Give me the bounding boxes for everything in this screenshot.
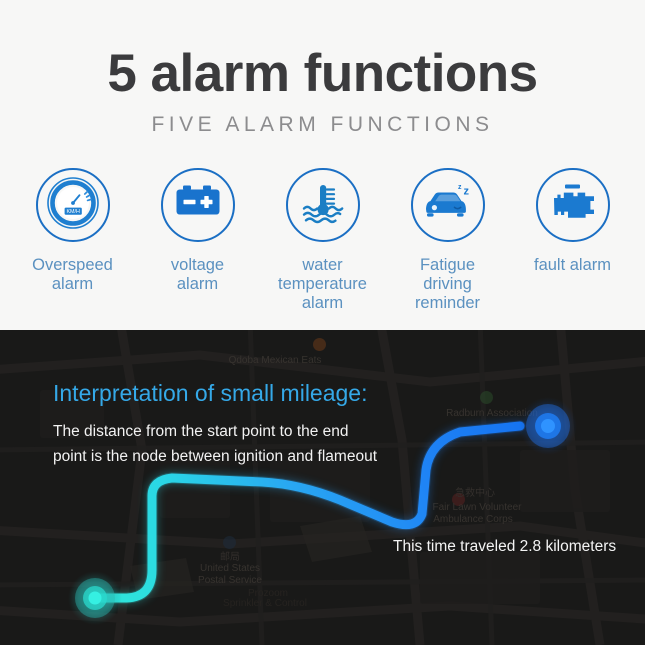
feature-icon-ring: z z [411,168,485,242]
title-block: 5 alarm functions FIVE ALARM FUNCTIONS [0,44,645,137]
feature-overspeed-alarm[interactable]: KM/H Overspeedalarm [10,168,135,294]
page-subtitle: FIVE ALARM FUNCTIONS [0,113,645,137]
gauge-unit-label: KM/H [66,209,80,215]
feature-label-fatigue-driving-reminder: Fatiguedrivingreminder [415,256,480,313]
alarm-functions-panel: 5 alarm functions FIVE ALARM FUNCTIONS [0,0,645,330]
mileage-map-panel: Qdoba Mexican Eats Radburn Association 急… [0,330,645,645]
feature-label-overspeed-alarm: Overspeedalarm [32,256,113,294]
engine-fault-icon [548,182,598,229]
battery-icon [174,183,222,228]
sleep-mark-label: z [463,185,469,197]
map-description-line-1: The distance from the start point to the… [53,419,377,444]
speedometer-icon: KM/H [46,176,100,235]
feature-fault-alarm[interactable]: fault alarm [510,168,635,275]
promo-graphic: 5 alarm functions FIVE ALARM FUNCTIONS [0,0,645,645]
map-heading: Interpretation of small mileage: [53,380,368,407]
feature-list: KM/H Overspeedalarm [10,168,635,313]
sleep-mark-small-label: z [458,184,462,191]
feature-label-water-temperature-alarm: watertemperaturealarm [278,256,367,313]
feature-icon-ring [536,168,610,242]
distance-readout: This time traveled 2.8 kilometers [393,538,616,556]
route-start-marker[interactable] [68,571,122,625]
feature-icon-ring: KM/H [36,168,110,242]
feature-label-fault-alarm: fault alarm [534,256,611,275]
feature-voltage-alarm[interactable]: voltagealarm [135,168,260,294]
feature-label-voltage-alarm: voltagealarm [171,256,224,294]
map-description-line-2: point is the node between ignition and f… [53,444,377,469]
page-title: 5 alarm functions [0,44,645,104]
feature-icon-ring [161,168,235,242]
map-description: The distance from the start point to the… [53,419,377,469]
route-end-marker[interactable] [519,397,577,455]
feature-water-temperature-alarm[interactable]: watertemperaturealarm [260,168,385,313]
fatigue-car-icon: z z [421,183,475,228]
feature-fatigue-driving-reminder[interactable]: z z Fatiguedrivingreminder [385,168,510,313]
feature-icon-ring [286,168,360,242]
water-temperature-icon [298,181,348,230]
route-track [0,330,645,645]
